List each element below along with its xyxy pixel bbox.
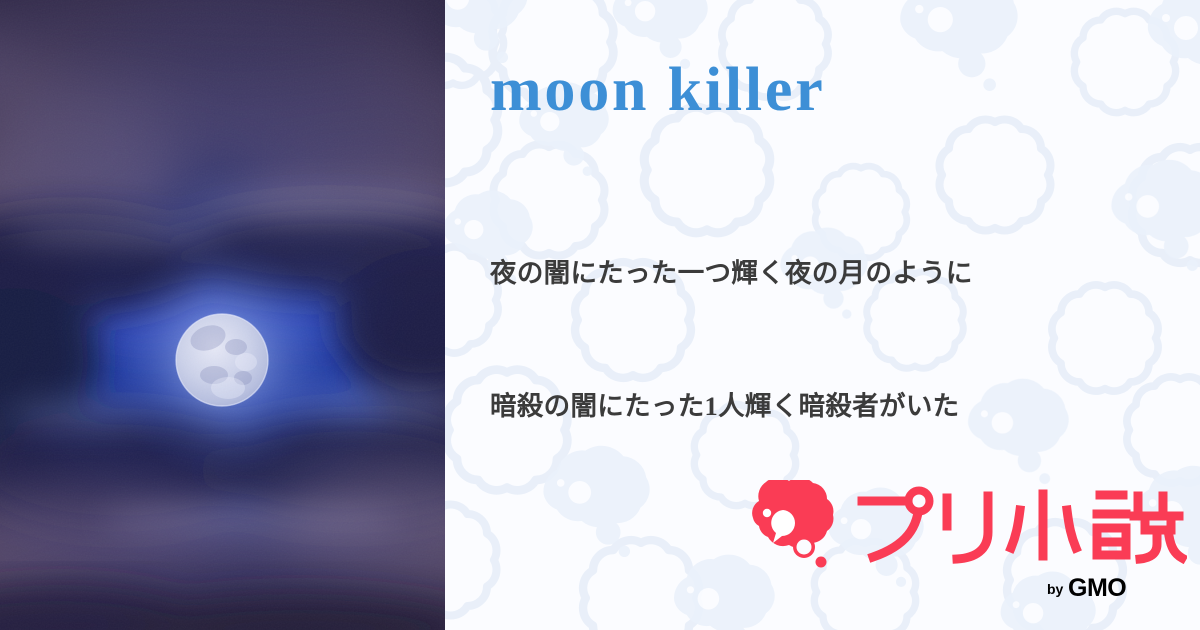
brand-lockup: by GMO	[745, 480, 1185, 600]
description-line-2: 暗殺の闇にたった1人輝く暗殺者がいた	[490, 391, 1180, 423]
description: 夜の闇にたった一つ輝く夜の月のように 暗殺の闇にたった1人輝く暗殺者がいた	[490, 258, 1180, 423]
content-panel: moon killer 夜の闇にたった一つ輝く夜の月のように 暗殺の闇にたった1…	[445, 0, 1200, 630]
cover-image	[0, 0, 445, 630]
gmo-text: GMO	[1068, 574, 1126, 600]
by-gmo-logo: by GMO	[1047, 574, 1173, 600]
puri-cloud-flower-mark-icon	[745, 480, 843, 568]
brand-row	[745, 480, 1187, 568]
share-card: moon killer 夜の闇にたった一つ輝く夜の月のように 暗殺の闇にたった1…	[0, 0, 1200, 630]
brand-wordmark	[857, 484, 1187, 564]
by-prefix-text: by	[1047, 581, 1064, 597]
page-title: moon killer	[490, 56, 1180, 124]
description-line-1: 夜の闇にたった一つ輝く夜の月のように	[490, 258, 1180, 290]
